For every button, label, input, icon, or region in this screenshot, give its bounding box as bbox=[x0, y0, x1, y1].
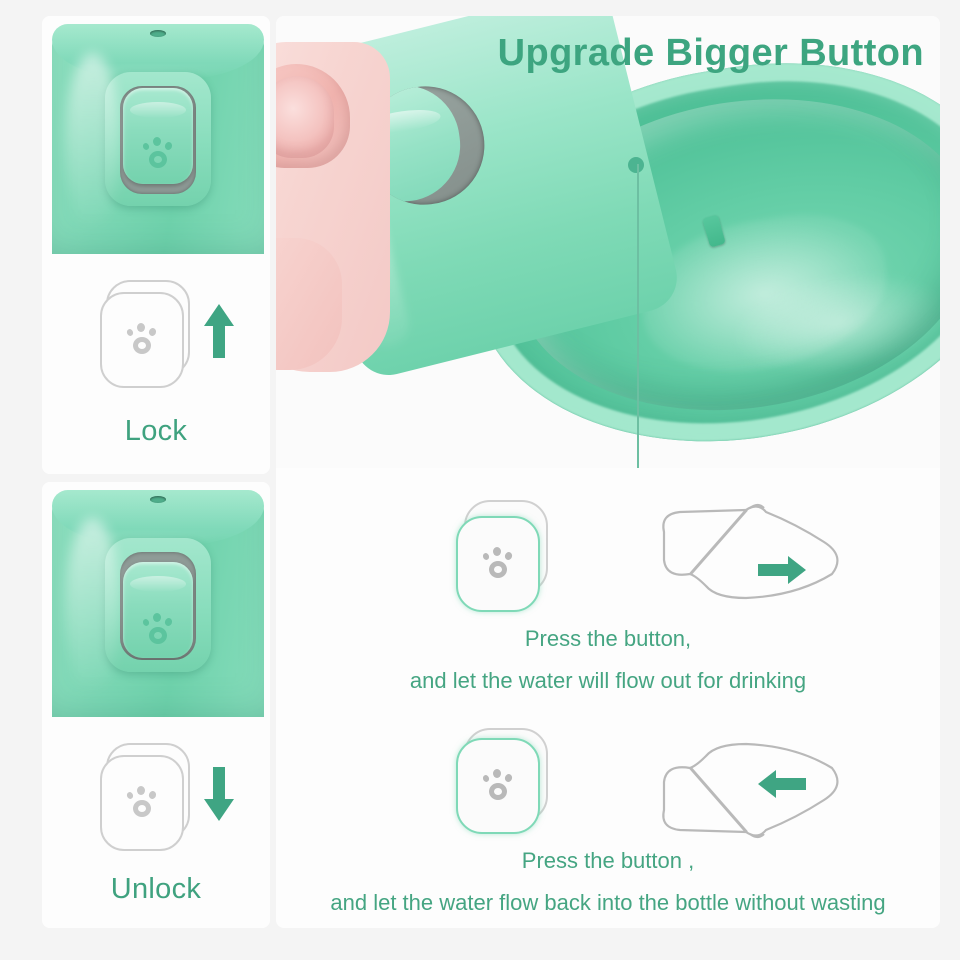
button-outline-front bbox=[100, 292, 184, 388]
lock-panel-card: Lock bbox=[42, 16, 270, 474]
button-ridge bbox=[130, 576, 186, 592]
callout-dot bbox=[628, 157, 644, 173]
bottle-top-body bbox=[52, 24, 264, 254]
lock-button-diagram bbox=[100, 280, 186, 386]
thumbnail bbox=[276, 76, 334, 158]
button-outline-front bbox=[456, 516, 540, 612]
unlock-product-photo bbox=[42, 482, 270, 717]
flow-back-line-2: and let the water flow back into the bot… bbox=[276, 890, 940, 916]
lock-product-photo bbox=[42, 16, 270, 254]
flow-out-line-2: and let the water will flow out for drin… bbox=[276, 668, 940, 694]
button-slot bbox=[120, 552, 196, 660]
bottle-top-body bbox=[52, 490, 264, 717]
lock-legend: Lock bbox=[42, 254, 270, 474]
mini-button-raised-diagram bbox=[456, 728, 546, 838]
button-key-down[interactable] bbox=[123, 562, 193, 658]
hand bbox=[276, 42, 390, 372]
instruction-flow-back: Press the button , and let the water flo… bbox=[276, 708, 940, 928]
flow-back-line-1: Press the button , bbox=[276, 848, 940, 874]
vent-hole-icon bbox=[150, 30, 166, 37]
button-outline-front bbox=[100, 755, 184, 851]
unlock-button-diagram bbox=[100, 743, 186, 849]
paw-print-icon bbox=[140, 612, 176, 646]
mini-button-pressed-diagram bbox=[456, 500, 546, 610]
button-ridge bbox=[130, 102, 186, 118]
button-outline-front bbox=[456, 738, 540, 834]
button-slot bbox=[120, 86, 196, 194]
unlock-panel-card: Unlock bbox=[42, 482, 270, 928]
up-arrow-icon bbox=[202, 302, 236, 360]
button-housing bbox=[105, 538, 211, 672]
callout-leader-line bbox=[637, 164, 639, 468]
flow-back-diagram bbox=[646, 724, 856, 844]
flow-out-line-1: Press the button, bbox=[276, 626, 940, 652]
index-finger bbox=[276, 238, 342, 370]
button-housing bbox=[105, 72, 211, 206]
paw-print-icon bbox=[124, 322, 160, 356]
lock-caption: Lock bbox=[42, 415, 270, 448]
instruction-flow-out: Press the button, and let the water will… bbox=[276, 478, 940, 710]
flow-out-diagram bbox=[646, 498, 856, 618]
unlock-caption: Unlock bbox=[42, 873, 270, 906]
down-arrow-icon bbox=[202, 765, 236, 823]
button-key-up[interactable] bbox=[123, 88, 193, 184]
hero-product-photo: Upgrade Bigger Button bbox=[276, 16, 940, 468]
unlock-legend: Unlock bbox=[42, 717, 270, 928]
main-panel-card: Upgrade Bigger Button bbox=[276, 16, 940, 928]
paw-print-icon bbox=[480, 768, 516, 802]
vent-hole-icon bbox=[150, 496, 166, 503]
paw-print-icon bbox=[124, 785, 160, 819]
thumb bbox=[276, 64, 350, 168]
paw-print-icon bbox=[140, 136, 176, 170]
product-infographic: Lock bbox=[0, 0, 960, 960]
paw-print-icon bbox=[480, 546, 516, 580]
page-title: Upgrade Bigger Button bbox=[498, 32, 924, 75]
